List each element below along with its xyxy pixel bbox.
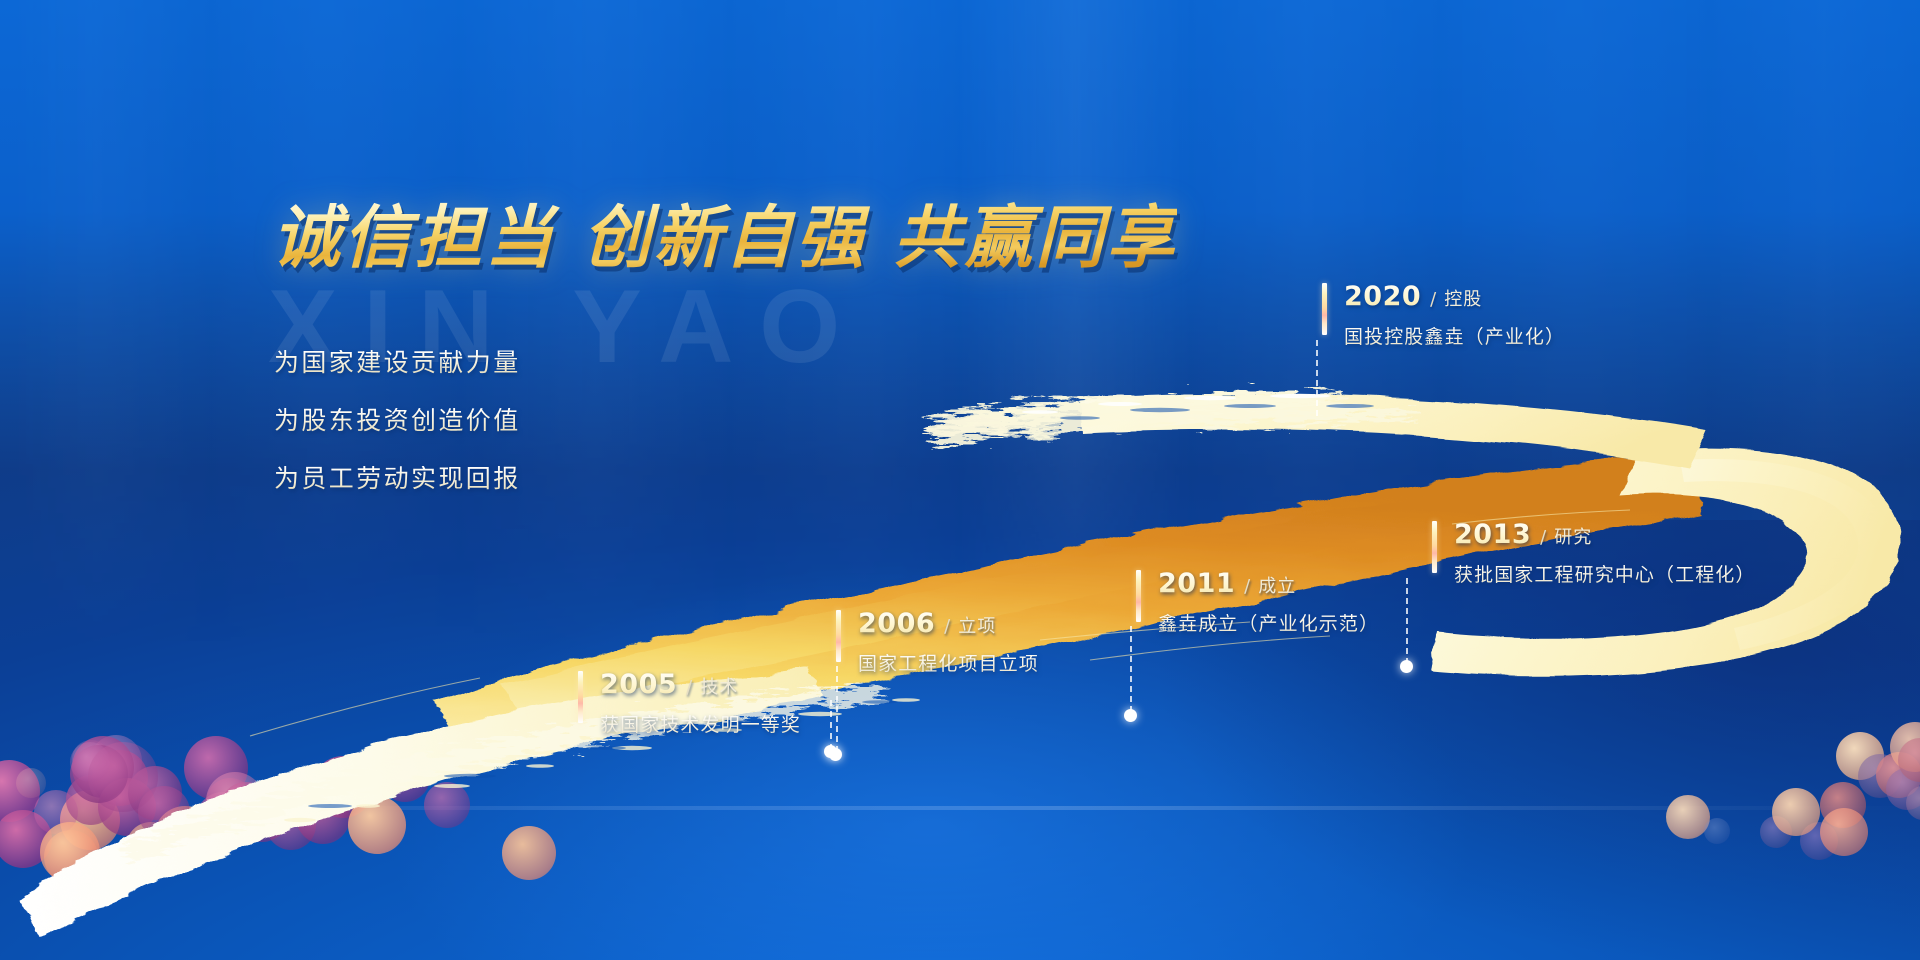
timeline-tag-label: 技术 — [700, 677, 738, 698]
timeline-leader-line-2011 — [1130, 626, 1132, 712]
slogan-line: 为员工劳动实现回报 — [274, 466, 521, 491]
timeline-tag: /技术 — [686, 673, 738, 699]
timeline-head: 2006 /立项 — [858, 608, 1039, 639]
timeline-description: 国家工程化项目立项 — [858, 649, 1039, 676]
timeline-head: 2005 /技术 — [600, 669, 801, 700]
timeline-leader-line-2005 — [830, 700, 832, 750]
banner-stage: XIN YAO 诚信担当 创新自强 共赢同享 为国家建设贡献力量 为股东投资创造… — [0, 0, 1920, 960]
slogan-list: 为国家建设贡献力量 为股东投资创造价值 为员工劳动实现回报 — [274, 350, 521, 524]
timeline-year: 2005 — [600, 669, 677, 700]
timeline-tag-label: 研究 — [1554, 527, 1592, 548]
timeline-item-2013[interactable]: 2013 /研究 获批国家工程研究中心（工程化） — [1432, 519, 1756, 587]
timeline-separator: / — [1540, 527, 1547, 548]
timeline-separator: / — [686, 677, 693, 698]
page-title: 诚信担当 创新自强 共赢同享 — [272, 200, 1177, 279]
slogan-line: 为国家建设贡献力量 — [274, 350, 521, 375]
timeline-accent-bar — [1432, 521, 1437, 573]
timeline-dot-2006[interactable] — [829, 748, 842, 761]
timeline-year: 2006 — [858, 608, 935, 639]
timeline-item-2006[interactable]: 2006 /立项 国家工程化项目立项 — [836, 608, 1039, 676]
timeline-separator: / — [944, 616, 951, 637]
timeline-leader-line-2006 — [836, 666, 838, 752]
timeline-tag: /控股 — [1430, 285, 1482, 311]
timeline-tag-label: 控股 — [1444, 289, 1482, 310]
timeline-separator: / — [1244, 576, 1251, 597]
timeline-separator: / — [1430, 289, 1437, 310]
timeline-head: 2011 /成立 — [1158, 568, 1379, 599]
timeline-item-2020[interactable]: 2020 /控股 国投控股鑫垚（产业化） — [1322, 281, 1565, 349]
timeline-accent-bar — [836, 610, 841, 662]
timeline-description: 鑫垚成立（产业化示范） — [1158, 609, 1379, 636]
timeline-accent-bar — [1322, 283, 1327, 335]
timeline-accent-bar — [1136, 570, 1141, 622]
timeline-tag: /立项 — [944, 612, 996, 638]
timeline-tag-label: 成立 — [1258, 576, 1296, 597]
timeline-description: 获国家技术发明一等奖 — [600, 710, 801, 737]
timeline-leader-line-2020 — [1316, 340, 1318, 416]
timeline-year: 2011 — [1158, 568, 1235, 599]
timeline-year: 2013 — [1454, 519, 1531, 550]
timeline-year: 2020 — [1344, 281, 1421, 312]
timeline-item-2011[interactable]: 2011 /成立 鑫垚成立（产业化示范） — [1136, 568, 1379, 636]
timeline-head: 2013 /研究 — [1454, 519, 1756, 550]
timeline-item-2005[interactable]: 2005 /技术 获国家技术发明一等奖 — [578, 669, 801, 737]
timeline-leader-line-2013 — [1406, 578, 1408, 664]
timeline-tag-label: 立项 — [958, 616, 996, 637]
timeline-dot-2013[interactable] — [1400, 660, 1413, 673]
timeline-dot-2011[interactable] — [1124, 709, 1137, 722]
slogan-line: 为股东投资创造价值 — [274, 408, 521, 433]
timeline-tag: /研究 — [1540, 523, 1592, 549]
timeline-tag: /成立 — [1244, 572, 1296, 598]
timeline-description: 获批国家工程研究中心（工程化） — [1454, 560, 1756, 587]
timeline-accent-bar — [578, 671, 583, 723]
timeline-description: 国投控股鑫垚（产业化） — [1344, 322, 1565, 349]
timeline-head: 2020 /控股 — [1344, 281, 1565, 312]
